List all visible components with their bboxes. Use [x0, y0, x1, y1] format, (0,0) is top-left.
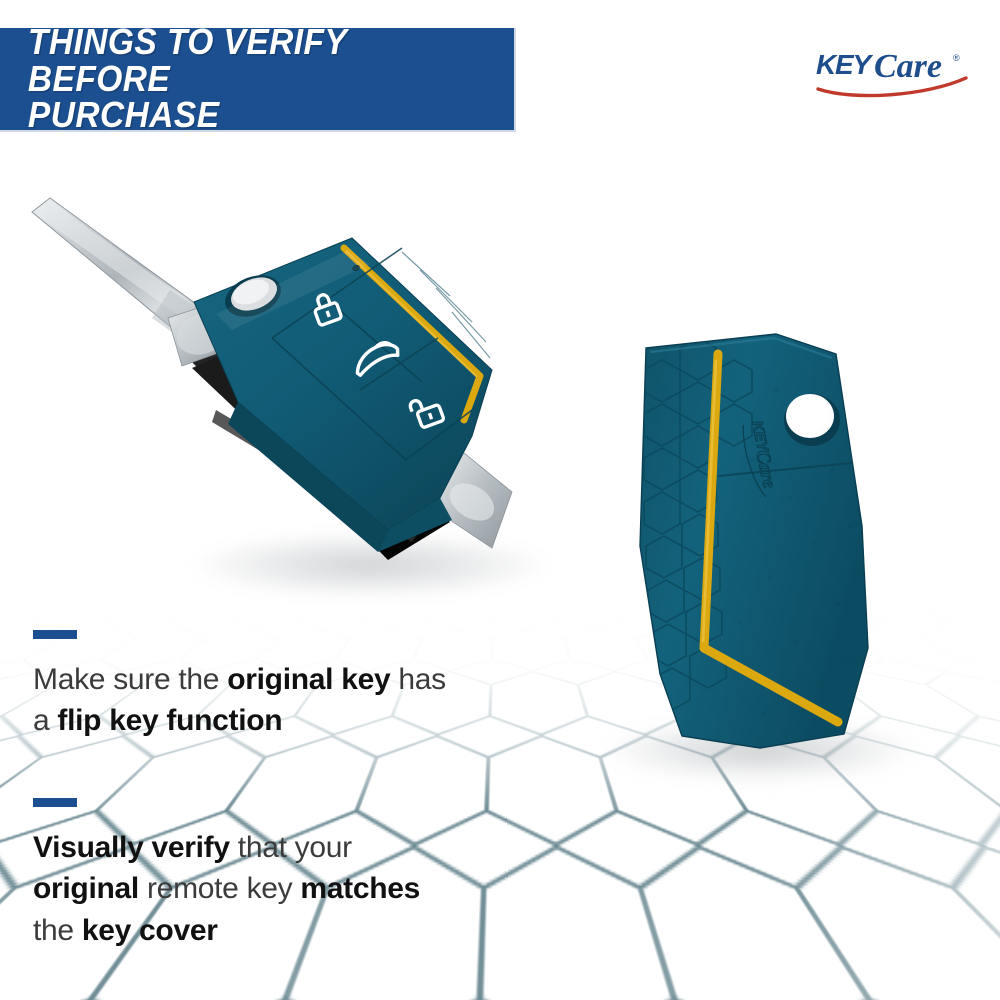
logo-keyword-group: KEY Care ®: [816, 48, 960, 85]
bullet-1-part-0: Make sure the: [33, 663, 227, 696]
logo-care-text: Care: [874, 48, 942, 85]
key-fob-front: [120, 230, 600, 590]
bullet-text-1: Make sure the original key has a flip ke…: [33, 659, 463, 742]
key-fob-front-svg: [120, 230, 600, 590]
page-title: THINGS TO VERIFY BEFORE PURCHASE: [0, 24, 478, 134]
header-banner: THINGS TO VERIFY BEFORE PURCHASE: [0, 28, 516, 132]
keycare-logo-svg: KEY Care ®: [814, 44, 974, 100]
bullet-1-part-1: original key: [227, 663, 390, 696]
bullet-2-part-3: remote key: [139, 872, 300, 905]
bullet-text-2: Visually verify that your original remot…: [33, 827, 463, 951]
bullet-1-part-3: flip key function: [57, 704, 282, 737]
bullet-2-part-5: the: [33, 914, 82, 947]
bullet-2-part-4: matches: [300, 872, 420, 905]
keycare-logo: KEY Care ®: [814, 44, 974, 100]
logo-trademark: ®: [953, 53, 960, 63]
bullet-marker-2: [33, 798, 77, 807]
infographic-canvas: THINGS TO VERIFY BEFORE PURCHASE KEY Car…: [0, 0, 1000, 1000]
bullet-2-part-1: that your: [230, 831, 352, 864]
bullet-flip-key: Make sure the original key has a flip ke…: [33, 630, 463, 742]
key-cover-back-svg: KEY Care: [600, 330, 900, 760]
bullet-2-part-2: original: [33, 872, 139, 905]
keyring-hole-back: [784, 394, 840, 446]
bullet-marker-1: [33, 630, 77, 639]
key-cover-back: KEY Care: [600, 330, 900, 760]
bullet-2-part-0: Visually verify: [33, 831, 230, 864]
bullet-2-part-6: key cover: [82, 914, 218, 947]
bullet-visual-match: Visually verify that your original remot…: [33, 798, 463, 951]
logo-key-text: KEY: [816, 49, 873, 80]
